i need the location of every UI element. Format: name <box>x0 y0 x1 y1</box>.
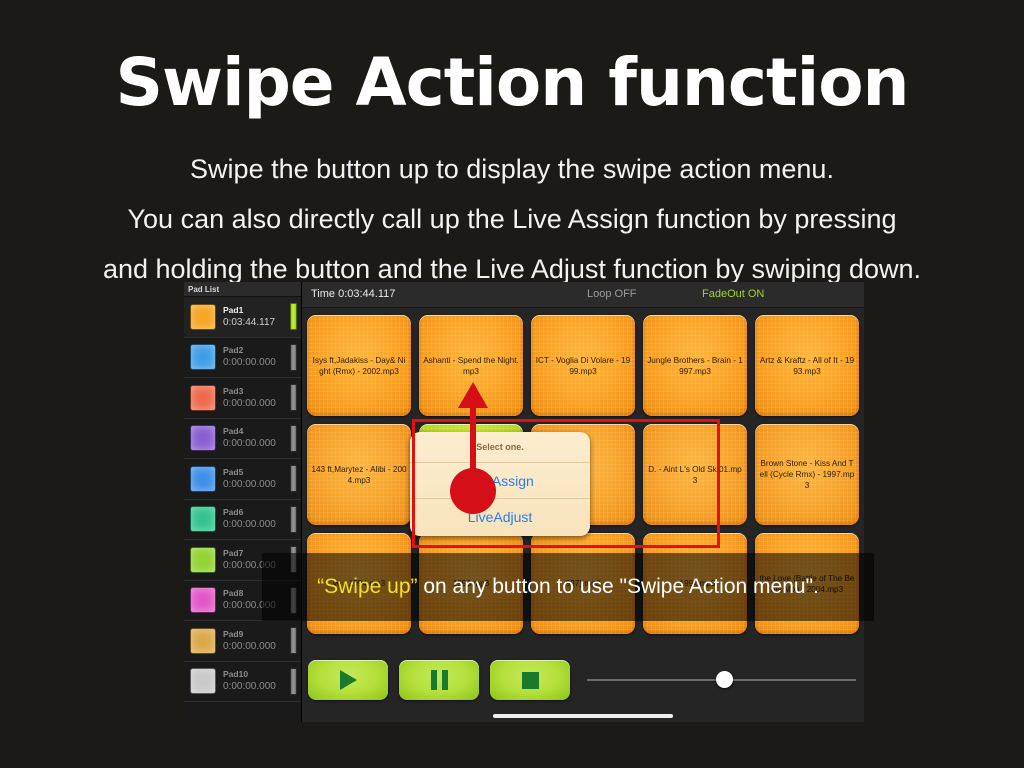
pad-list-item-pad10[interactable]: Pad100:00:00.000 <box>184 662 301 703</box>
pad-meta: Pad10:03:44.117 <box>216 304 290 330</box>
pad-color-swatch <box>190 547 216 573</box>
pad-button-2-1[interactable]: 143 ft,Marytez - Alibi - 2004.mp3 <box>307 424 411 525</box>
pad-time-label: 0:00:00.000 <box>223 680 290 694</box>
home-indicator <box>493 714 673 718</box>
caption-highlight: “Swipe up” <box>317 575 417 598</box>
pad-time-label: 0:00:00.000 <box>223 518 290 532</box>
pad-level-meter <box>290 303 297 330</box>
pad-color-swatch <box>190 425 216 451</box>
caption-rest: on any button to use "Swipe Action menu"… <box>418 575 819 598</box>
subtitle-line-2: You can also directly call up the Live A… <box>0 202 1024 236</box>
pad-list-item-pad3[interactable]: Pad30:00:00.000 <box>184 378 301 419</box>
pad-name-label: Pad2 <box>223 344 290 356</box>
pad-button-2-4[interactable]: D. - Aint L's Old Sk 01.mp3 <box>643 424 747 525</box>
stop-icon <box>522 672 539 689</box>
pad-time-label: 0:00:00.000 <box>223 356 290 370</box>
slider-knob[interactable] <box>716 671 733 688</box>
touch-point-icon <box>450 468 496 514</box>
pause-icon <box>431 670 448 690</box>
pad-name-label: Pad4 <box>223 425 290 437</box>
pad-list-header: Pad List <box>184 282 301 297</box>
pad-list-item-pad1[interactable]: Pad10:03:44.117 <box>184 297 301 338</box>
pad-meta: Pad100:00:00.000 <box>216 668 290 694</box>
pad-color-swatch <box>190 344 216 370</box>
pad-list-item-pad2[interactable]: Pad20:00:00.000 <box>184 338 301 379</box>
pad-list-rows[interactable]: Pad10:03:44.117Pad20:00:00.000Pad30:00:0… <box>184 297 301 702</box>
pad-name-label: Pad6 <box>223 506 290 518</box>
pad-button-label: Brown Stone - Kiss And Tell (Cycle Rmx) … <box>755 458 859 491</box>
popup-beak-icon <box>410 475 411 493</box>
pad-color-swatch <box>190 385 216 411</box>
pad-meta: Pad40:00:00.000 <box>216 425 290 451</box>
pad-meta: Pad30:00:00.000 <box>216 385 290 411</box>
pad-name-label: Pad1 <box>223 304 290 316</box>
caption-overlay: “Swipe up” on any button to use "Swipe A… <box>262 553 874 621</box>
pad-meta: Pad90:00:00.000 <box>216 628 290 654</box>
pad-level-meter <box>290 344 297 371</box>
volume-slider[interactable] <box>587 678 856 682</box>
pad-name-label: Pad3 <box>223 385 290 397</box>
pad-level-meter <box>290 668 297 695</box>
pad-button-label: ICT - Voglia Di Volare - 1999.mp3 <box>531 355 635 377</box>
caption-text: “Swipe up” on any button to use "Swipe A… <box>317 575 819 599</box>
pad-meta: Pad60:00:00.000 <box>216 506 290 532</box>
pad-button-label: Jungle Brothers - Brain - 1997.mp3 <box>643 355 747 377</box>
swipe-action-popup[interactable]: Select one. LiveAssign LiveAdjust <box>410 432 590 536</box>
swipe-up-arrow-head-icon <box>458 382 488 408</box>
pad-time-label: 0:00:00.000 <box>223 437 290 451</box>
pad-time-label: 0:00:00.000 <box>223 397 290 411</box>
pad-color-swatch <box>190 466 216 492</box>
pad-button-label: Ashanti - Spend the Night.mp3 <box>419 355 523 377</box>
pad-name-label: Pad9 <box>223 628 290 640</box>
transport-bar <box>302 650 864 722</box>
pad-name-label: Pad5 <box>223 466 290 478</box>
stop-button[interactable] <box>490 660 570 700</box>
pad-button-1-3[interactable]: ICT - Voglia Di Volare - 1999.mp3 <box>531 315 635 416</box>
pad-color-swatch <box>190 628 216 654</box>
pause-button[interactable] <box>399 660 479 700</box>
pad-list-item-pad5[interactable]: Pad50:00:00.000 <box>184 459 301 500</box>
pad-grid-row: Isys ft,Jadakiss - Day& Night (Rmx) - 20… <box>307 315 859 416</box>
pad-level-meter <box>290 384 297 411</box>
subtitle-line-1: Swipe the button up to display the swipe… <box>0 152 1024 186</box>
page-title: Swipe Action function <box>0 44 1024 122</box>
play-icon <box>340 670 357 690</box>
pad-color-swatch <box>190 506 216 532</box>
pad-button-label: Artz & Kraftz - All of It - 1993.mp3 <box>755 355 859 377</box>
pad-button-1-1[interactable]: Isys ft,Jadakiss - Day& Night (Rmx) - 20… <box>307 315 411 416</box>
pad-meta: Pad20:00:00.000 <box>216 344 290 370</box>
pad-list-item-pad4[interactable]: Pad40:00:00.000 <box>184 419 301 460</box>
slide-root: Swipe Action function Swipe the button u… <box>0 0 1024 768</box>
popup-item-liveadjust[interactable]: LiveAdjust <box>410 499 590 535</box>
pad-button-2-5[interactable]: Brown Stone - Kiss And Tell (Cycle Rmx) … <box>755 424 859 525</box>
pad-button-label: D. - Aint L's Old Sk 01.mp3 <box>643 464 747 486</box>
loop-toggle[interactable]: Loop OFF <box>587 288 637 300</box>
pad-level-meter <box>290 425 297 452</box>
pad-name-label: Pad10 <box>223 668 290 680</box>
pad-level-meter <box>290 627 297 654</box>
pad-button-1-4[interactable]: Jungle Brothers - Brain - 1997.mp3 <box>643 315 747 416</box>
pad-color-swatch <box>190 587 216 613</box>
pad-meta: Pad50:00:00.000 <box>216 466 290 492</box>
pad-button-label: Isys ft,Jadakiss - Day& Night (Rmx) - 20… <box>307 355 411 377</box>
popup-item-liveassign[interactable]: LiveAssign <box>410 463 590 499</box>
play-button[interactable] <box>308 660 388 700</box>
fadeout-toggle[interactable]: FadeOut ON <box>702 288 764 300</box>
subtitle-line-3: and holding the button and the Live Adju… <box>0 252 1024 286</box>
status-bar: Time 0:03:44.117 Loop OFF FadeOut ON <box>302 282 864 308</box>
pad-color-swatch <box>190 668 216 694</box>
pad-level-meter <box>290 506 297 533</box>
popup-title: Select one. <box>410 432 590 463</box>
pad-list-item-pad6[interactable]: Pad60:00:00.000 <box>184 500 301 541</box>
pad-time-label: 0:03:44.117 <box>223 316 290 330</box>
pad-list-item-pad9[interactable]: Pad90:00:00.000 <box>184 621 301 662</box>
pad-time-label: 0:00:00.000 <box>223 478 290 492</box>
pad-list-sidebar: Pad List Pad10:03:44.117Pad20:00:00.000P… <box>184 282 302 722</box>
pad-button-label: 143 ft,Marytez - Alibi - 2004.mp3 <box>307 464 411 486</box>
pad-color-swatch <box>190 304 216 330</box>
pad-time-label: 0:00:00.000 <box>223 640 290 654</box>
pad-button-1-5[interactable]: Artz & Kraftz - All of It - 1993.mp3 <box>755 315 859 416</box>
pad-level-meter <box>290 465 297 492</box>
time-readout: Time 0:03:44.117 <box>311 288 395 300</box>
